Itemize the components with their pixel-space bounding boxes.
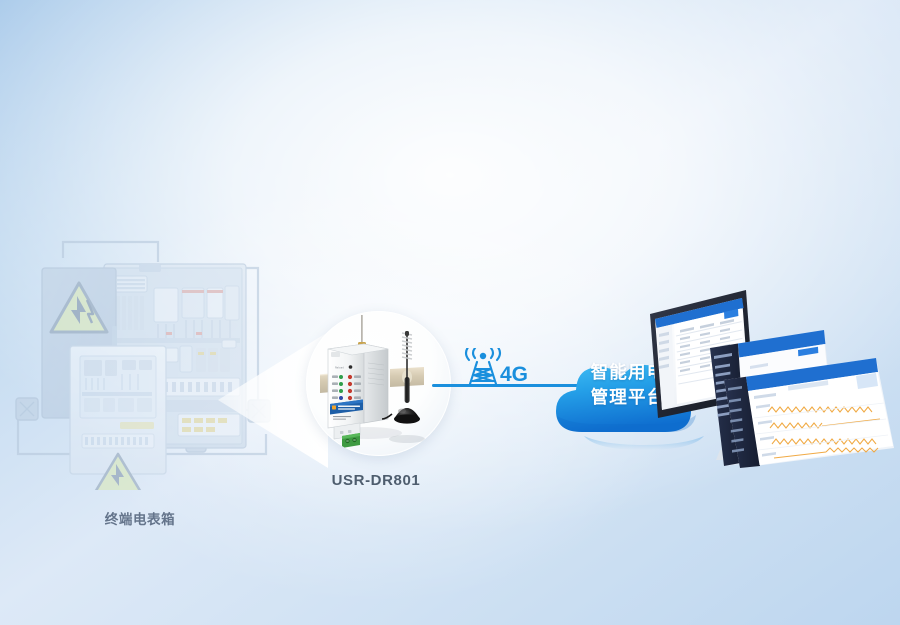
network-label: 4G — [500, 363, 528, 386]
product-spotlight-circle: Reload — [306, 311, 451, 456]
svg-text:Reload: Reload — [335, 366, 344, 370]
scene-canvas: 终端电表箱 — [0, 0, 900, 625]
monitor-dashboard-icon — [628, 276, 900, 472]
device-caption: USR-DR801 — [296, 472, 456, 489]
cell-tower-4g-icon: 4G — [462, 348, 540, 390]
cabinet-caption: 终端电表箱 — [60, 508, 220, 528]
